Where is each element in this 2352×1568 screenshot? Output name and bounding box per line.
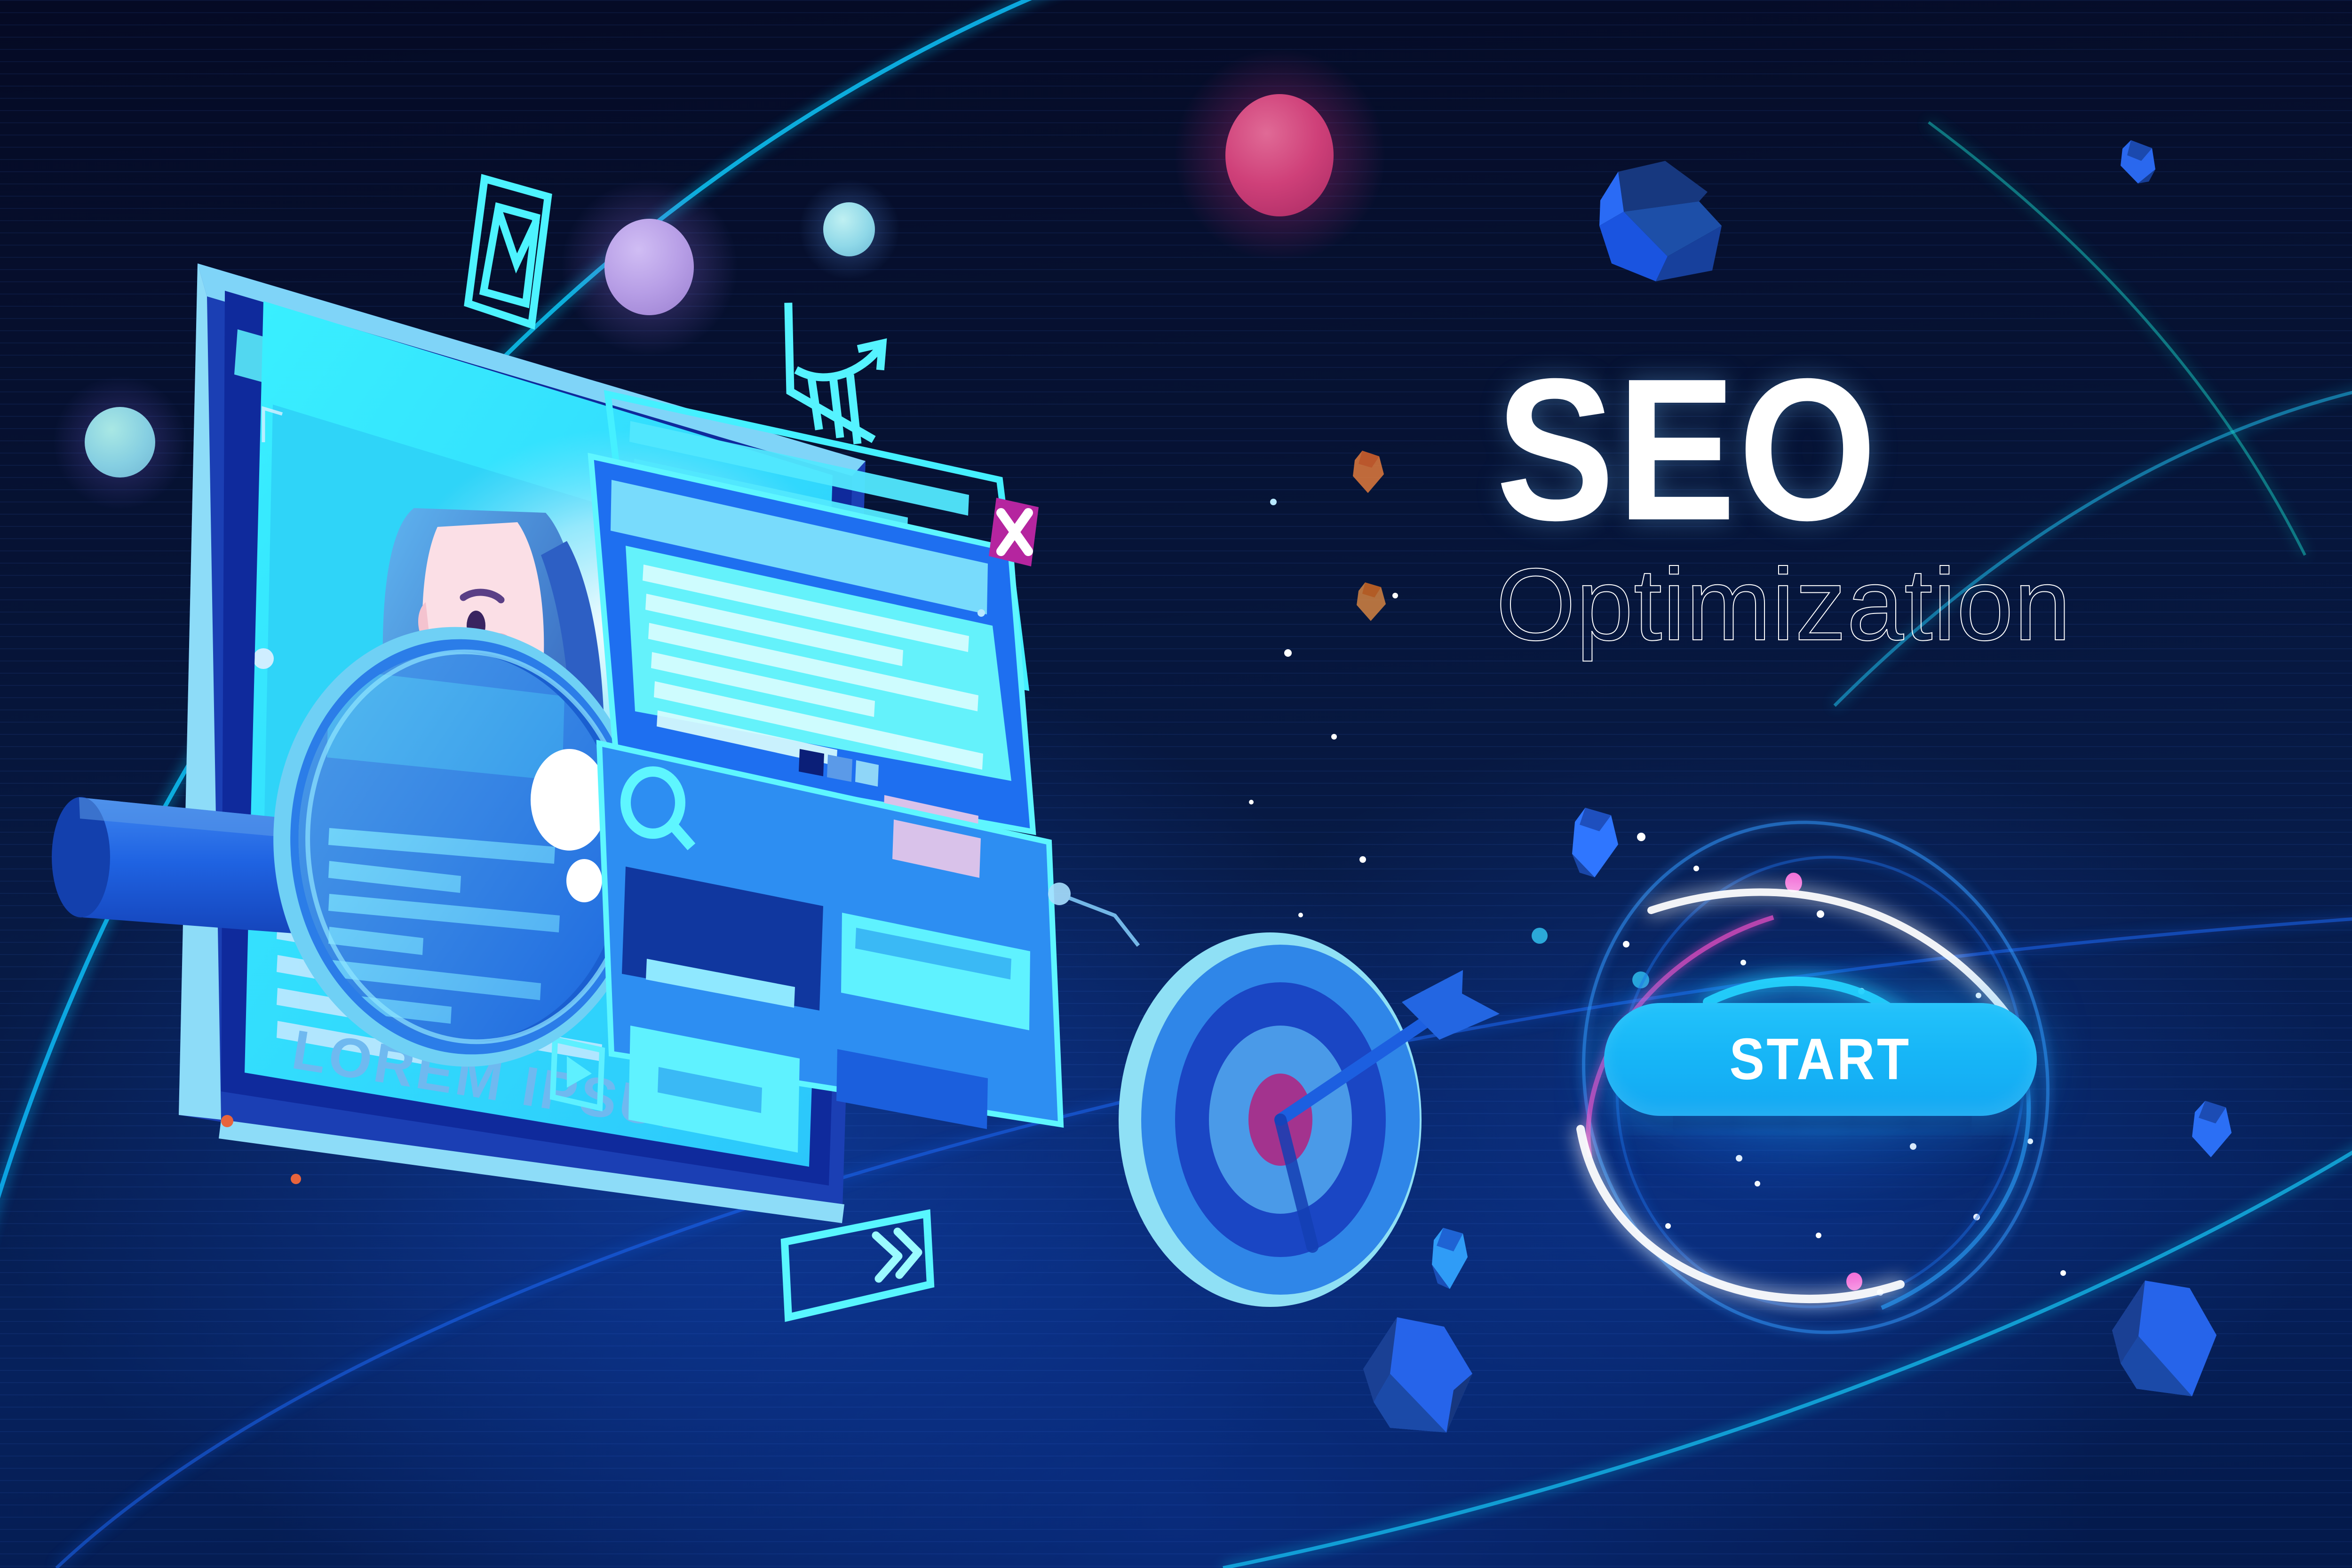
sparkle [1298, 913, 1303, 917]
sparkle [291, 1174, 301, 1184]
sparkle [1284, 649, 1292, 657]
growth-chart-icon [788, 307, 882, 440]
seo-illustration: LOREM IPSUM [0, 0, 1505, 1568]
lens-highlight-small [566, 859, 602, 902]
magnifier-icon[interactable] [52, 608, 670, 1085]
sparkle [221, 1115, 233, 1127]
cta-area: START [1510, 800, 2122, 1355]
start-button[interactable]: START [1604, 1003, 2037, 1116]
fast-forward-icon[interactable] [785, 1214, 930, 1317]
crystal-mid-right [2112, 136, 2164, 193]
sparkle [1392, 593, 1398, 598]
crystal-top-right [1571, 155, 1740, 296]
close-x-icon[interactable] [989, 498, 1039, 566]
sparkle [1359, 856, 1366, 863]
selection-handle [253, 648, 274, 669]
page-title: SEO [1496, 367, 2200, 533]
target-icon[interactable] [1119, 932, 1500, 1307]
sparkle [1270, 499, 1277, 505]
lens-highlight-large [531, 749, 608, 851]
sparkle [1249, 800, 1254, 804]
connector-line [1048, 883, 1138, 946]
seo-landing-page: LOREM IPSUM [0, 0, 2352, 1568]
sparkle [977, 609, 985, 617]
mail-icon [468, 179, 548, 325]
start-button-label: START [1730, 1026, 1911, 1093]
page-subtitle: Optimization [1496, 554, 2296, 656]
sparkle [1331, 734, 1337, 740]
